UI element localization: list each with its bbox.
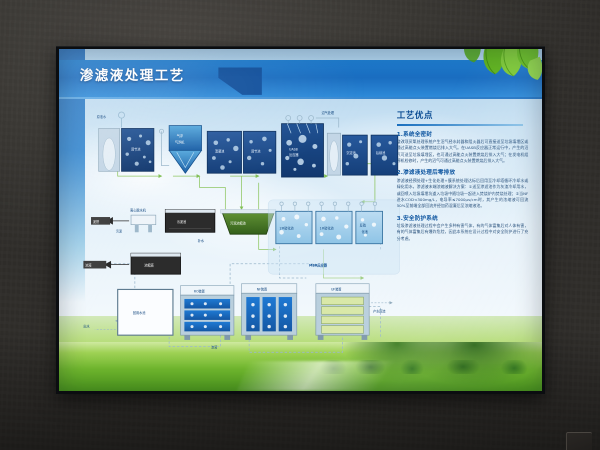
node-ro: RO装置 [181, 286, 234, 340]
node-chenzhi: 沉淀池 [328, 133, 368, 175]
node-label-inlet: 原液水 [97, 114, 107, 119]
edge-label-niba: 泥饼 [93, 219, 99, 224]
node-label-nongsuoye: 浓缩液 [145, 262, 155, 267]
section-1-heading: 1.系统全密封 [397, 130, 529, 138]
node-label-qifu2: 气浮机 [175, 140, 185, 145]
node-label-houxu: 后续池 [376, 150, 385, 155]
section-2-heading: 2.渗滤液处理后零排放 [397, 168, 529, 176]
panel-title: 工艺优点 [397, 109, 529, 123]
node-nongsuoye: 浓缩液 浓液 [84, 253, 181, 274]
node-label-chuli1: 混凝池 [215, 148, 224, 153]
node-huiyong: 回用水池 出水 [84, 289, 174, 335]
caption-mbr: MBR反应器 [310, 262, 329, 267]
node-label-uasb2: 反应器 [290, 152, 300, 157]
node-label-uf: UF装置 [332, 286, 342, 291]
node-label-mbr2: 1#硝化池 [320, 225, 334, 230]
edge-label-nongye: 浓液 [86, 262, 93, 267]
section-3-heading: 3.安全防护系统 [397, 214, 529, 222]
edge-arrow-niba: 泥饼 污泥 [91, 217, 129, 233]
node-label-ro: RO装置 [194, 288, 205, 293]
edge-label-chushui: 出水 [84, 323, 91, 328]
process-flow-diagram: 原液水 调节池 气浮 气浮机 [73, 97, 406, 364]
section-3-body: 垃圾渗滤液处理过程中会产生多种有害气体，有的气体富集后对人体有害，有的气体富集后… [397, 223, 529, 242]
node-lixin-machine [132, 215, 157, 232]
node-label-wunie-nongsuo: 污泥浓缩池 [231, 221, 247, 226]
node-qifu: 气浮 气浮机 [160, 125, 202, 173]
node-mbr2: 1#硝化池 [316, 211, 352, 243]
inlet-valve-icon [119, 112, 125, 118]
display-screen: 渗滤液处理工艺 [59, 49, 542, 391]
node-label-nf: NF装置 [257, 286, 267, 291]
advantage-section-3: 3.安全防护系统 垃圾渗滤液处理过程中会产生多种有害气体，有的气体富集后对人体有… [397, 214, 529, 242]
node-mbr1: 2#硝化池 [276, 211, 312, 243]
node-label-mbr3: 反硝 [360, 222, 366, 227]
node-label-qifu: 气浮 [177, 133, 183, 138]
node-tiaojie2: 调节池 [244, 131, 276, 173]
node-label-uasb: UASB [290, 147, 299, 151]
node-label-tiaojie1: 调节池 [132, 146, 141, 151]
node-nf: NF装置 [242, 284, 297, 340]
node-label-lixin: 离心脱水机 [131, 207, 147, 212]
page-title: 渗滤液处理工艺 [80, 64, 185, 84]
advantages-panel: 工艺优点 1.系统全密封 整改项厌氧处理系统产生沼气经水封器和阻火器后可直接送至… [395, 107, 533, 360]
section-1-body: 整改项厌氧处理系统产生沼气经水封器和阻火器后可直接送至垃圾填埋区或通过高能点火装… [397, 139, 529, 164]
wall-socket [566, 432, 592, 450]
node-label-mbr1: 2#硝化池 [280, 225, 294, 230]
edge-label-shenqi: 沼气处理 [322, 110, 335, 115]
advantage-section-2: 2.渗滤液处理后零排放 渗滤液经预处理+生化处理+膜系统处理达标后回用至冷却塔循… [397, 168, 529, 209]
node-label-mbr3b: 化池 [362, 229, 368, 234]
edge-label-wunie: 污泥 [116, 228, 122, 233]
section-2-body: 渗滤液经预处理+生化处理+膜系统处理达标后回用至冷却塔循环冷却水或绿化用水，渗滤… [397, 178, 529, 210]
node-label-chenzhi: 沉淀池 [347, 150, 356, 155]
node-label-wuniechi: 污泥池 [177, 219, 186, 224]
node-chuli1: 混凝池 [208, 131, 242, 173]
edge-label-chanshui: 产水回流 [373, 308, 386, 313]
node-tiaojie1: 调节池 [99, 128, 154, 171]
panel-divider [397, 124, 523, 126]
leaf-decoration [416, 49, 542, 105]
node-wunie-nongsuo: 污泥浓缩池 [221, 209, 276, 234]
node-mbr3: 反硝 化池 [356, 211, 383, 243]
field-path [237, 361, 403, 391]
node-label-tiaojie2: 调节池 [252, 148, 261, 153]
wall-mounted-display[interactable]: 渗滤液处理工艺 [56, 46, 545, 394]
edge-label-nongye2: 浓液 [212, 344, 219, 349]
edge-label-buishui: 补水 [198, 238, 205, 243]
node-wuniechi: 污泥池 [166, 209, 216, 232]
node-label-huiyong: 回用水池 [133, 310, 146, 315]
advantage-section-1: 1.系统全密封 整改项厌氧处理系统产生沼气经水封器和阻火器后可直接送至垃圾填埋区… [397, 130, 529, 165]
